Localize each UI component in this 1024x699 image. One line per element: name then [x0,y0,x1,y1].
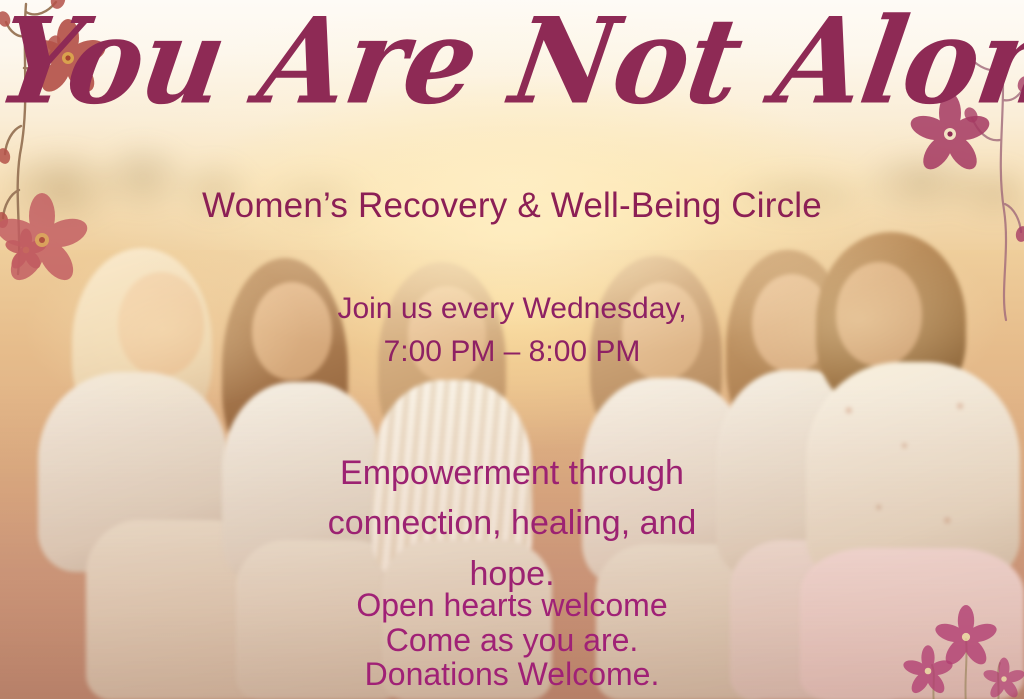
poster-subtitle: Women’s Recovery & Well-Being Circle [0,186,1024,226]
tagline-block: Empowerment through connection, healing,… [0,448,1024,599]
poster-title: You Are Not Alone [0,3,1024,122]
schedule-day: Join us every Wednesday, [0,288,1024,331]
schedule-time: 7:00 PM – 8:00 PM [0,331,1024,374]
closing-block: Open hearts welcome Come as you are. Don… [0,588,1024,692]
tagline-line-1: Empowerment through [0,448,1024,498]
closing-line-3: Donations Welcome. [0,657,1024,692]
tagline-line-2: connection, healing, and [0,498,1024,548]
closing-line-1: Open hearts welcome [0,588,1024,623]
schedule-block: Join us every Wednesday, 7:00 PM – 8:00 … [0,288,1024,373]
closing-line-2: Come as you are. [0,623,1024,658]
poster: You Are Not Alone Women’s Recovery & Wel… [0,0,1024,699]
